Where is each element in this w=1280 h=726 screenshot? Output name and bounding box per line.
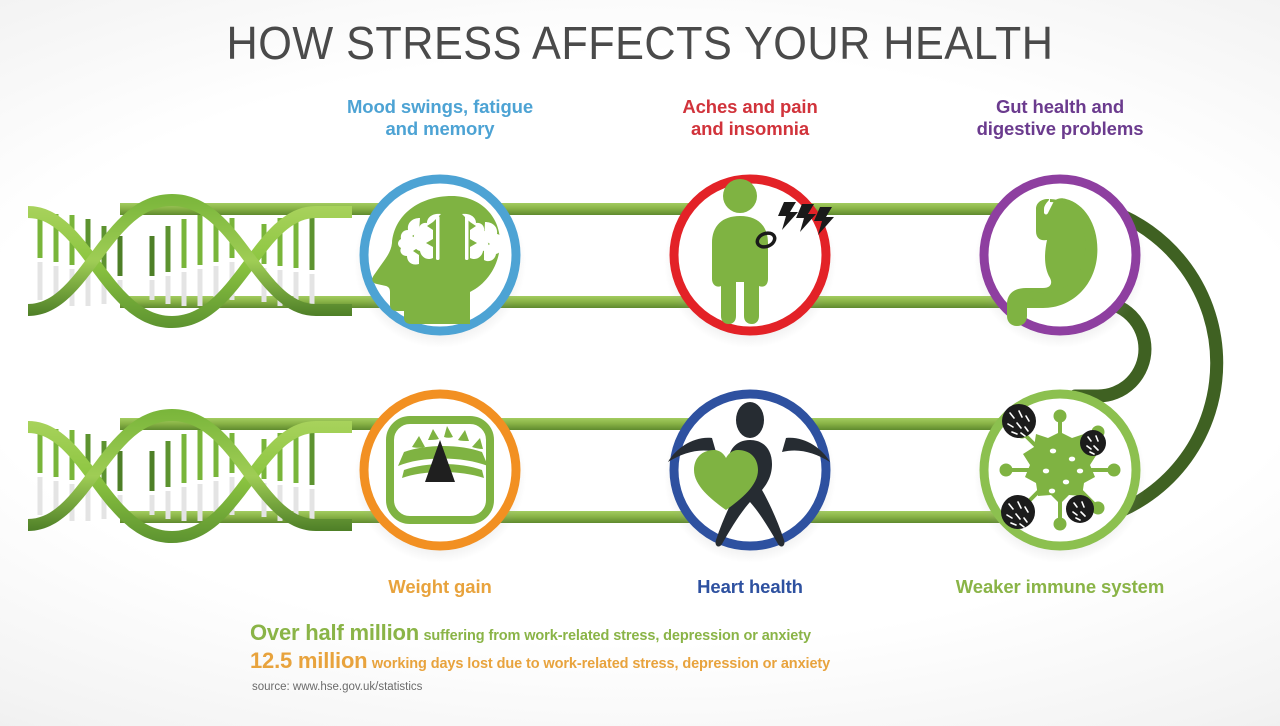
label-heart-line1: Heart health <box>630 576 870 598</box>
stat-2-detail: working days lost due to work-related st… <box>372 656 830 672</box>
label-pain: Aches and pain and insomnia <box>620 96 880 139</box>
node-heart[interactable] <box>664 391 836 563</box>
label-weight: Weight gain <box>320 576 560 598</box>
stat-1-detail: suffering from work-related stress, depr… <box>423 628 811 644</box>
label-pain-line2: and insomnia <box>620 118 880 140</box>
label-immune: Weaker immune system <box>925 576 1195 598</box>
stat-1-headline: Over half million <box>250 620 419 645</box>
node-gut[interactable] <box>974 176 1146 348</box>
label-brain-line2: and memory <box>305 118 575 140</box>
label-gut: Gut health and digestive problems <box>930 96 1190 139</box>
label-pain-line1: Aches and pain <box>620 96 880 118</box>
label-gut-line1: Gut health and <box>930 96 1190 118</box>
node-weight[interactable] <box>354 391 526 563</box>
node-immune[interactable] <box>974 391 1146 563</box>
label-heart: Heart health <box>630 576 870 598</box>
stat-2-headline: 12.5 million <box>250 648 367 673</box>
footer-statistics: Over half million suffering from work-re… <box>250 620 1150 676</box>
stat-line-2: 12.5 million working days lost due to wo… <box>250 648 1150 674</box>
node-pain[interactable] <box>664 176 836 348</box>
stat-line-1: Over half million suffering from work-re… <box>250 620 1150 646</box>
label-weight-line1: Weight gain <box>320 576 560 598</box>
label-gut-line2: digestive problems <box>930 118 1190 140</box>
label-immune-line1: Weaker immune system <box>925 576 1195 598</box>
dna-double-helix-icon <box>28 194 352 543</box>
label-brain-line1: Mood swings, fatigue <box>305 96 575 118</box>
label-brain: Mood swings, fatigue and memory <box>305 96 575 139</box>
node-brain[interactable] <box>354 176 526 348</box>
infographic-canvas: HOW STRESS AFFECTS YOUR HEALTH <box>0 0 1280 726</box>
source-citation: source: www.hse.gov.uk/statistics <box>252 681 422 693</box>
